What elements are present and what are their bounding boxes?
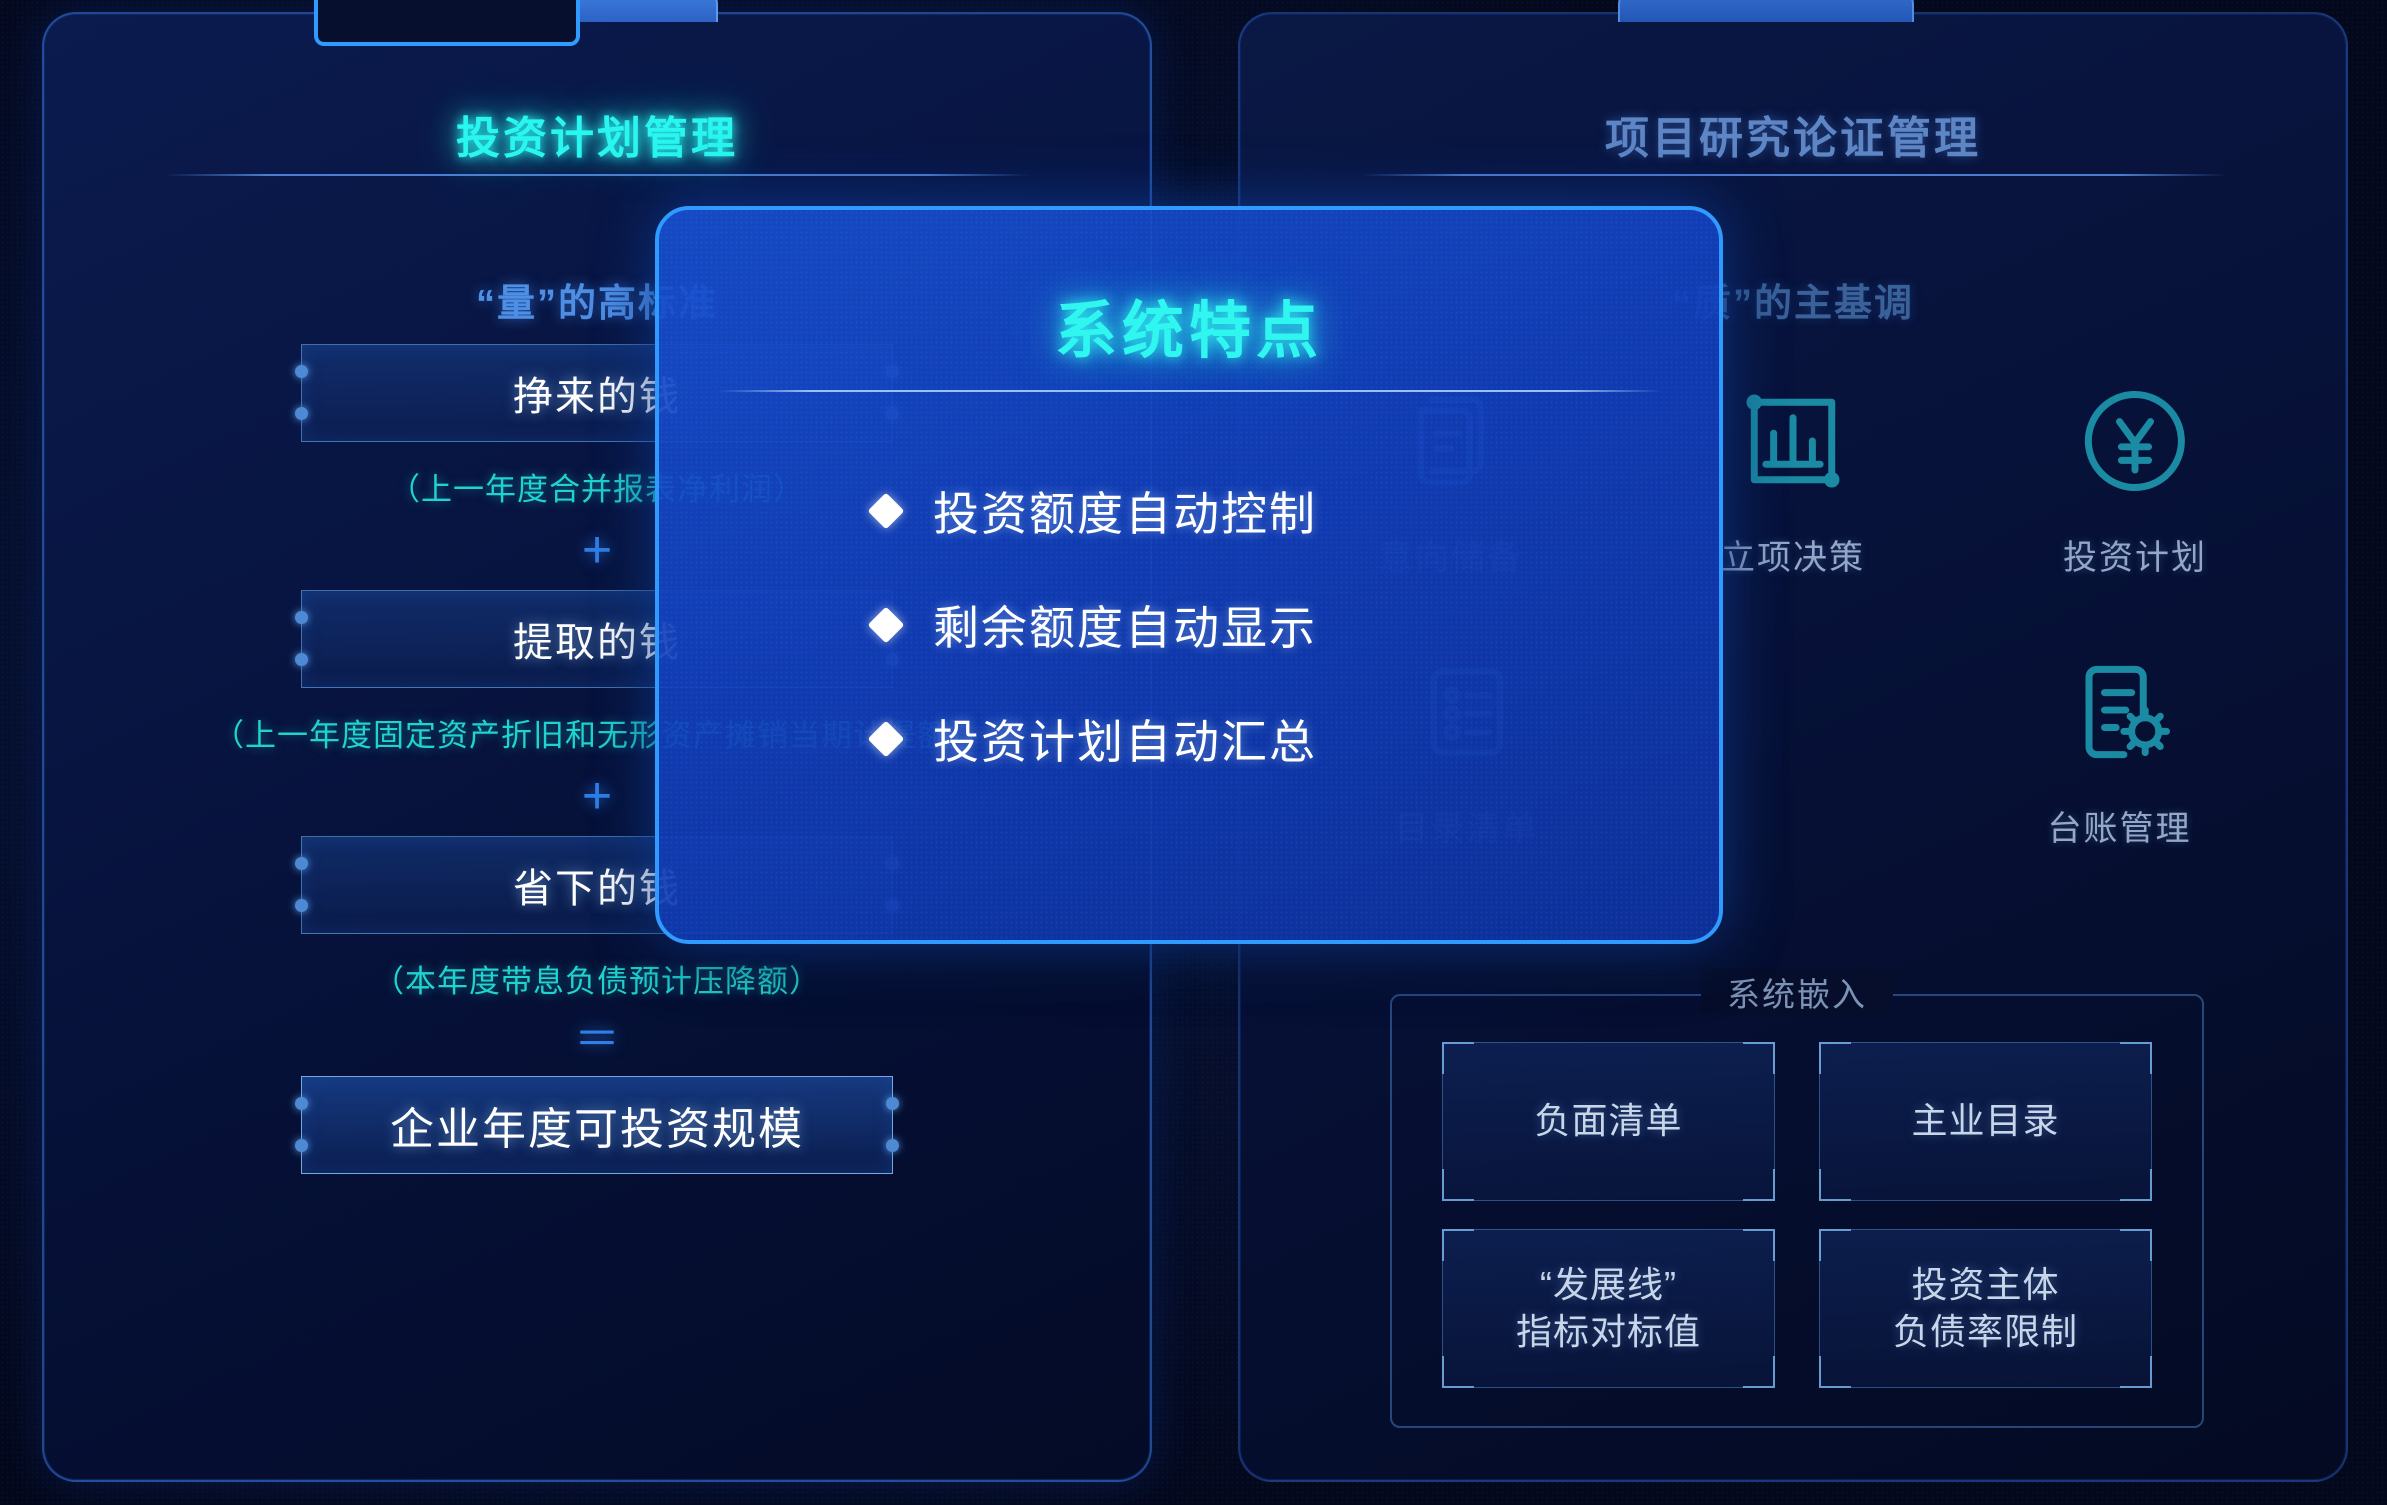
feature-label: 投资计划自动汇总 [933,706,1317,772]
node-dot [295,857,308,870]
embed-cell-label: 主业目录 [1911,1098,2059,1144]
right-panel-divider [1360,174,2226,176]
diamond-bullet-icon [868,607,905,644]
formula-note-saved: （本年度带息负债预计压降额） [44,956,1150,1001]
system-embed-group: 系统嵌入 负面清单 主业目录 “发展线” 指标对标值 投资主体 负债率限制 [1390,994,2204,1428]
formula-result-label: 企业年度可投资规模 [390,1093,804,1157]
embed-cell-main-business-catalog[interactable]: 主业目录 [1819,1042,2152,1201]
node-dot [886,1139,899,1152]
embed-cell-label: 投资主体 负债率限制 [1893,1262,2078,1354]
node-dot [295,1139,308,1152]
embed-cell-development-line[interactable]: “发展线” 指标对标值 [1442,1229,1775,1388]
node-dot [295,407,308,420]
feature-item[interactable]: 投资额度自动控制 [873,478,1317,544]
panel-tab-right [1618,0,1914,22]
overlay-divider [717,390,1661,392]
system-features-overlay: 系统特点 投资额度自动控制 剩余额度自动显示 投资计划自动汇总 [655,206,1723,944]
embed-cell-negative-list[interactable]: 负面清单 [1442,1042,1775,1201]
document-gear-icon [1970,637,2270,787]
left-panel-divider [164,174,1030,176]
feature-label: 剩余额度自动显示 [933,592,1317,658]
module-investment-plan[interactable]: 投资计划 [1985,366,2285,579]
system-embed-legend: 系统嵌入 [1701,968,1893,1016]
embed-cell-label: “发展线” 指标对标值 [1516,1262,1701,1354]
node-dot [295,1097,308,1110]
formula-operator-equals: ＝ [44,1019,1150,1060]
overlay-folder-notch [314,0,580,46]
right-panel-title: 项目研究论证管理 [1240,102,2346,166]
diamond-bullet-icon [868,493,905,530]
node-dot [295,365,308,378]
feature-label: 投资额度自动控制 [933,478,1317,544]
diamond-bullet-icon [868,721,905,758]
overlay-title: 系统特点 [659,280,1719,370]
feature-item[interactable]: 剩余额度自动显示 [873,592,1317,658]
left-panel-title: 投资计划管理 [44,102,1150,166]
node-dot [295,899,308,912]
module-ledger-management[interactable]: 台账管理 [1970,637,2270,850]
node-dot [295,611,308,624]
yen-circle-icon [1985,366,2285,516]
embed-cell-debt-ratio-limit[interactable]: 投资主体 负债率限制 [1819,1229,2152,1388]
module-label: 台账管理 [1970,801,2270,850]
module-label: 投资计划 [1985,530,2285,579]
feature-item[interactable]: 投资计划自动汇总 [873,706,1317,772]
embed-cell-label: 负面清单 [1534,1098,1682,1144]
node-dot [886,1097,899,1110]
node-dot [295,653,308,666]
overlay-feature-list: 投资额度自动控制 剩余额度自动显示 投资计划自动汇总 [873,478,1317,820]
formula-box-result: 企业年度可投资规模 [301,1076,893,1174]
